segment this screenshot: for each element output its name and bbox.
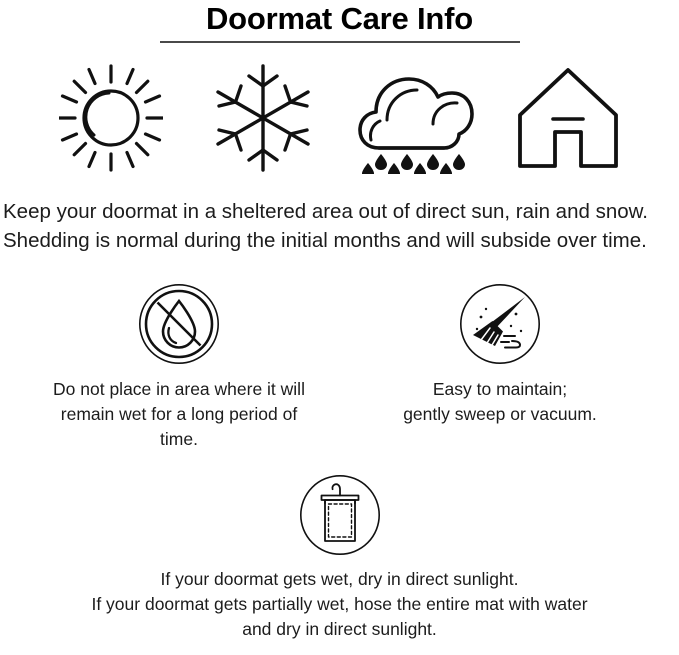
intro-paragraph: Keep your doormat in a sheltered area ou… <box>0 179 679 255</box>
caption-line-2: remain wet for a long period of time. <box>40 402 318 452</box>
title-block: Doormat Care Info <box>0 0 679 43</box>
caption-line-2: If your doormat gets partially wet, hose… <box>91 592 587 617</box>
caption-line-2: gently sweep or vacuum. <box>403 402 597 427</box>
care-caption-no-standing-water: Do not place in area where it will remai… <box>40 377 318 452</box>
hang-dry-icon <box>299 474 381 556</box>
intro-line-1: Keep your doormat in a sheltered area ou… <box>3 197 677 226</box>
snowflake-icon <box>214 62 312 174</box>
weather-cell-snowflake <box>188 57 338 179</box>
raindrops-group <box>362 154 465 174</box>
caption-line-1: If your doormat gets wet, dry in direct … <box>91 567 587 592</box>
care-caption-hang-dry: If your doormat gets wet, dry in direct … <box>91 567 587 642</box>
care-item-hang-dry: If your doormat gets wet, dry in direct … <box>0 474 679 642</box>
weather-cell-rain-cloud <box>341 57 491 179</box>
care-badge-row: Do not place in area where it will remai… <box>0 255 679 452</box>
weather-cell-sun <box>36 57 186 179</box>
care-caption-easy-maintain: Easy to maintain; gently sweep or vacuum… <box>403 377 597 427</box>
caption-line-1: Do not place in area where it will <box>40 377 318 402</box>
care-item-no-standing-water: Do not place in area where it will remai… <box>40 283 318 452</box>
doormat-care-info-page: Doormat Care Info <box>0 0 679 655</box>
care-item-easy-maintain: Easy to maintain; gently sweep or vacuum… <box>361 283 639 452</box>
intro-line-2: Shedding is normal during the initial mo… <box>3 226 677 255</box>
caption-line-1: Easy to maintain; <box>403 377 597 402</box>
sun-icon <box>59 62 163 174</box>
snowflake-center <box>260 115 266 121</box>
no-water-icon <box>138 283 220 365</box>
house-icon <box>512 62 624 174</box>
broom-icon <box>459 283 541 365</box>
weather-cell-house <box>493 57 643 179</box>
caption-line-3: and dry in direct sunlight. <box>91 617 587 642</box>
weather-icon-row <box>0 43 679 179</box>
sweep-lines <box>501 336 520 348</box>
page-title: Doormat Care Info <box>0 2 679 36</box>
rain-cloud-icon <box>357 62 475 174</box>
